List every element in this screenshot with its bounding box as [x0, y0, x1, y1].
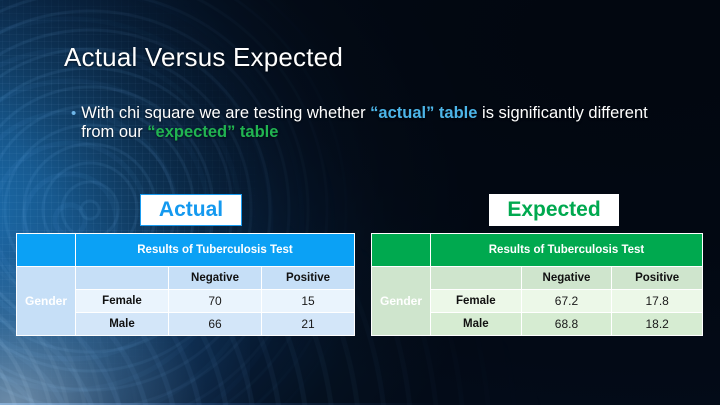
- bullet-highlight-actual: “actual” table: [370, 104, 477, 122]
- table-row-header: Results of Tuberculosis Test: [17, 234, 355, 267]
- bullet-list: • With chi square we are testing whether…: [71, 104, 651, 142]
- blank-cell: [76, 267, 169, 290]
- corner-cell: [17, 234, 76, 267]
- row-label-male: Male: [76, 313, 169, 336]
- caption-expected: Expected: [489, 194, 619, 226]
- column-header-negative: Negative: [521, 267, 612, 290]
- table-expected: Results of Tuberculosis Test Gender Nega…: [371, 233, 703, 336]
- cell-female-negative: 70: [169, 290, 262, 313]
- slide-content: Actual Versus Expected • With chi square…: [0, 0, 720, 405]
- row-label-female: Female: [76, 290, 169, 313]
- bullet-highlight-expected: “expected” table: [147, 123, 278, 141]
- bullet-dot-icon: •: [71, 104, 76, 123]
- table-row-columns: Gender Negative Positive: [372, 267, 703, 290]
- bullet-text: With chi square we are testing whether “…: [81, 104, 651, 142]
- column-header-positive: Positive: [262, 267, 355, 290]
- cell-male-negative: 66: [169, 313, 262, 336]
- row-group-label: Gender: [17, 267, 76, 336]
- bullet-text-part1: With chi square we are testing whether: [81, 104, 370, 122]
- row-label-female: Female: [431, 290, 522, 313]
- corner-cell: [372, 234, 431, 267]
- cell-male-positive: 21: [262, 313, 355, 336]
- cell-male-positive: 18.2: [612, 313, 703, 336]
- cell-female-negative: 67.2: [521, 290, 612, 313]
- list-item: • With chi square we are testing whether…: [71, 104, 651, 142]
- table-actual: Results of Tuberculosis Test Gender Nega…: [16, 233, 355, 336]
- column-header-positive: Positive: [612, 267, 703, 290]
- table-row-header: Results of Tuberculosis Test: [372, 234, 703, 267]
- row-label-male: Male: [431, 313, 522, 336]
- table-header-title: Results of Tuberculosis Test: [76, 234, 355, 267]
- table-header-title: Results of Tuberculosis Test: [431, 234, 703, 267]
- cell-female-positive: 17.8: [612, 290, 703, 313]
- cell-female-positive: 15: [262, 290, 355, 313]
- column-header-negative: Negative: [169, 267, 262, 290]
- slide-canvas: Actual Versus Expected • With chi square…: [0, 0, 720, 405]
- table-row-columns: Gender Negative Positive: [17, 267, 355, 290]
- blank-cell: [431, 267, 522, 290]
- row-group-label: Gender: [372, 267, 431, 336]
- cell-male-negative: 68.8: [521, 313, 612, 336]
- caption-actual: Actual: [140, 194, 242, 226]
- page-title: Actual Versus Expected: [64, 42, 343, 73]
